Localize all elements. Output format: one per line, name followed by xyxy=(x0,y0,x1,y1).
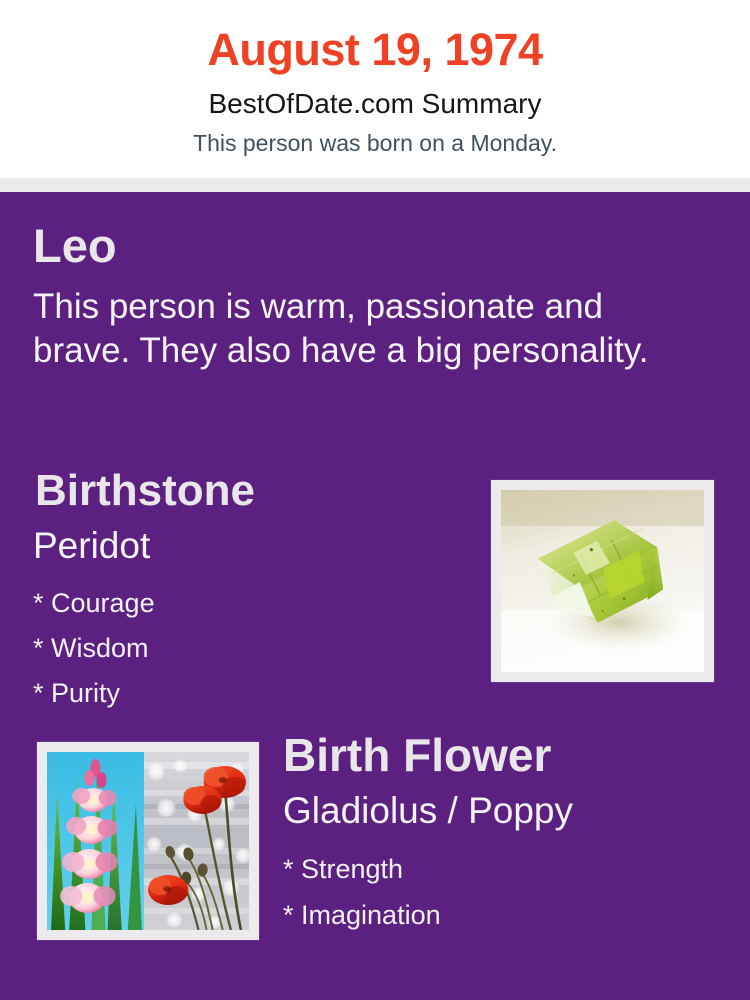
poppy-icon xyxy=(144,752,249,930)
birthstone-image-frame xyxy=(491,480,714,682)
birth-flower-heading: Birth Flower xyxy=(283,732,551,778)
born-day-note: This person was born on a Monday. xyxy=(0,130,750,156)
birth-flower-traits-list: * Strength * Imagination xyxy=(283,847,441,939)
page-title-date: August 19, 1974 xyxy=(0,26,750,73)
peridot-gem-icon xyxy=(501,490,704,672)
birth-flower-image-frame xyxy=(37,742,259,940)
list-item: * Imagination xyxy=(283,893,441,939)
site-summary-label: BestOfDate.com Summary xyxy=(0,88,750,120)
list-item: * Wisdom xyxy=(33,626,155,671)
birthstone-name: Peridot xyxy=(33,527,150,564)
zodiac-sign-title: Leo xyxy=(33,222,117,269)
list-item: * Strength xyxy=(283,847,441,893)
gladiolus-icon xyxy=(47,752,144,930)
list-item: * Purity xyxy=(33,671,155,716)
birthstone-image xyxy=(501,490,704,672)
birthstone-heading: Birthstone xyxy=(35,469,255,513)
zodiac-description: This person is warm, passionate and brav… xyxy=(33,285,693,373)
gladiolus-photo-half xyxy=(47,752,144,930)
list-item: * Courage xyxy=(33,581,155,626)
poppy-photo-half xyxy=(144,752,249,930)
infographic-card: August 19, 1974 BestOfDate.com Summary T… xyxy=(0,0,750,1000)
birthstone-traits-list: * Courage * Wisdom * Purity xyxy=(33,581,155,715)
details-panel: Leo This person is warm, passionate and … xyxy=(0,192,750,1000)
birth-flower-name: Gladiolus / Poppy xyxy=(283,792,573,829)
header-divider xyxy=(0,178,750,192)
header-section: August 19, 1974 BestOfDate.com Summary T… xyxy=(0,0,750,178)
birth-flower-image xyxy=(47,752,249,930)
